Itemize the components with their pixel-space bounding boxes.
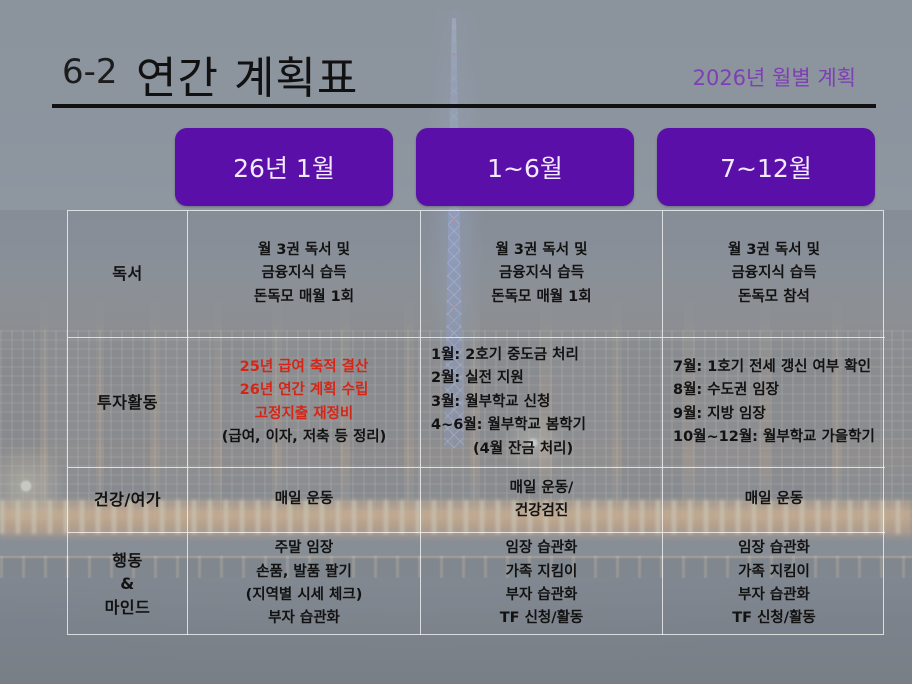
cell-line: 월 3권 독서 및 bbox=[258, 239, 350, 262]
cell-line: 돈독모 매월 1회 bbox=[491, 286, 591, 309]
cell-line: 월 3권 독서 및 bbox=[496, 239, 588, 262]
cell-line: 임장 습관화 bbox=[506, 537, 578, 560]
cell-line: 10월~12월: 월부학교 가을학기 bbox=[673, 426, 875, 449]
cell-line: 9월: 지방 임장 bbox=[673, 403, 766, 426]
table-cell: 월 3권 독서 및금융지식 습득돈독모 매월 1회 bbox=[421, 211, 663, 338]
subtitle: 2026년 월별 계획 bbox=[693, 62, 856, 92]
cell-line: 7월: 1호기 전세 갱신 여부 확인 bbox=[673, 356, 871, 379]
plan-table: 독서월 3권 독서 및금융지식 습득돈독모 매월 1회월 3권 독서 및금융지식… bbox=[67, 210, 884, 635]
cell-line: (급여, 이자, 저축 등 정리) bbox=[222, 426, 387, 449]
row-header-line: 건강/여가 bbox=[94, 488, 161, 511]
row-header-line: 마인드 bbox=[105, 596, 151, 619]
cell-line: 2월: 실전 지원 bbox=[431, 367, 524, 390]
page-title: 연간 계획표 bbox=[136, 42, 358, 106]
table-cell: 매일 운동/건강검진 bbox=[421, 468, 663, 533]
column-header-h2[interactable]: 7~12월 bbox=[657, 128, 875, 206]
cell-line: 월 3권 독서 및 bbox=[728, 239, 820, 262]
cell-line: TF 신청/활동 bbox=[500, 607, 584, 630]
cell-line: 금융지식 습득 bbox=[731, 262, 816, 285]
cell-line: 26년 연간 계획 수립 bbox=[240, 379, 369, 402]
cell-line: 8월: 수도권 임장 bbox=[673, 379, 779, 402]
row-header-line: 독서 bbox=[112, 262, 142, 285]
cell-line: 부자 습관화 bbox=[738, 584, 810, 607]
slide-content: 6-2 연간 계획표 2026년 월별 계획 26년 1월 1~6월 7~12월… bbox=[0, 0, 912, 684]
cell-line: 4~6월: 월부학교 봄학기 bbox=[431, 414, 586, 437]
table-cell: 매일 운동 bbox=[188, 468, 421, 533]
row-header-line: 투자활동 bbox=[97, 391, 158, 414]
cell-line: 부자 습관화 bbox=[268, 607, 340, 630]
title-area: 6-2 연간 계획표 2026년 월별 계획 bbox=[0, 44, 912, 106]
cell-line: (지역별 시세 체크) bbox=[246, 584, 363, 607]
column-header-jan[interactable]: 26년 1월 bbox=[175, 128, 393, 206]
row-header: 독서 bbox=[68, 211, 188, 338]
table-cell: 매일 운동 bbox=[663, 468, 885, 533]
row-header: 건강/여가 bbox=[68, 468, 188, 533]
cell-line: 금융지식 습득 bbox=[261, 262, 346, 285]
table-cell: 임장 습관화가족 지킴이부자 습관화TF 신청/활동 bbox=[421, 533, 663, 635]
row-header: 투자활동 bbox=[68, 338, 188, 468]
table-cell: 25년 급여 축적 결산26년 연간 계획 수립고정지출 재정비(급여, 이자,… bbox=[188, 338, 421, 468]
column-header-h1[interactable]: 1~6월 bbox=[416, 128, 634, 206]
table-cell: 월 3권 독서 및금융지식 습득돈독모 매월 1회 bbox=[188, 211, 421, 338]
row-header-line: & bbox=[120, 572, 134, 595]
cell-line: 금융지식 습득 bbox=[499, 262, 584, 285]
cell-line: 돈독모 매월 1회 bbox=[254, 286, 354, 309]
cell-line: 손품, 발품 팔기 bbox=[256, 561, 352, 584]
cell-line: 고정지출 재정비 bbox=[255, 403, 353, 426]
cell-line: 부자 습관화 bbox=[506, 584, 578, 607]
cell-line: 주말 임장 bbox=[275, 537, 333, 560]
cell-line: 매일 운동 bbox=[745, 488, 803, 511]
table-cell: 임장 습관화가족 지킴이부자 습관화TF 신청/활동 bbox=[663, 533, 885, 635]
cell-line: 돈독모 참석 bbox=[738, 286, 810, 309]
cell-line: 건강검진 bbox=[515, 500, 568, 523]
cell-line: TF 신청/활동 bbox=[732, 607, 816, 630]
cell-line: 임장 습관화 bbox=[738, 537, 810, 560]
table-cell: 월 3권 독서 및금융지식 습득돈독모 참석 bbox=[663, 211, 885, 338]
cell-line: 가족 지킴이 bbox=[506, 561, 578, 584]
cell-line: 매일 운동/ bbox=[510, 477, 574, 500]
title-divider bbox=[52, 104, 876, 108]
table-cell: 7월: 1호기 전세 갱신 여부 확인8월: 수도권 임장9월: 지방 임장10… bbox=[663, 338, 885, 468]
row-header-line: 행동 bbox=[112, 549, 142, 572]
slide: 6-2 연간 계획표 2026년 월별 계획 26년 1월 1~6월 7~12월… bbox=[0, 0, 912, 684]
table-cell: 1월: 2호기 중도금 처리2월: 실전 지원3월: 월부학교 신청4~6월: … bbox=[421, 338, 663, 468]
cell-line: (4월 잔금 처리) bbox=[431, 438, 573, 461]
title-number: 6-2 bbox=[62, 52, 118, 92]
cell-line: 1월: 2호기 중도금 처리 bbox=[431, 344, 579, 367]
table-cell: 주말 임장손품, 발품 팔기(지역별 시세 체크)부자 습관화 bbox=[188, 533, 421, 635]
cell-line: 가족 지킴이 bbox=[738, 561, 810, 584]
cell-line: 25년 급여 축적 결산 bbox=[240, 356, 369, 379]
cell-line: 매일 운동 bbox=[275, 488, 333, 511]
row-header: 행동&마인드 bbox=[68, 533, 188, 635]
cell-line: 3월: 월부학교 신청 bbox=[431, 391, 550, 414]
